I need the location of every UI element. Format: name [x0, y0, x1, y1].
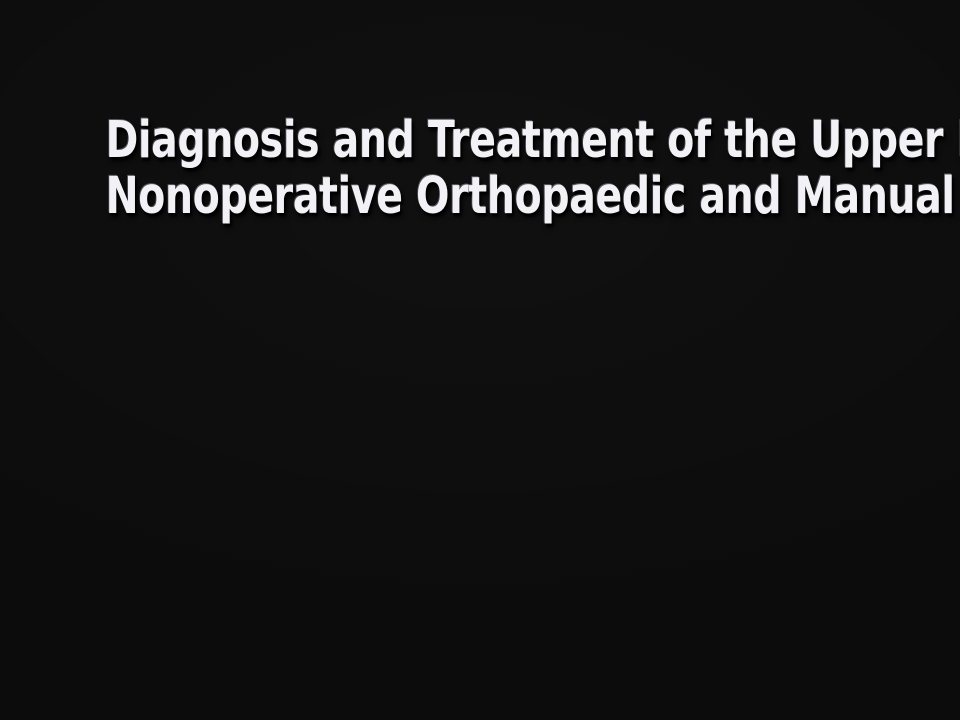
- cover-title-line-1: Diagnosis and Treatment of the Upper Ext…: [106, 112, 855, 168]
- cover-title-line-2: Nonoperative Orthopaedic and Manual Ther…: [106, 168, 855, 224]
- cover-title-block: Diagnosis and Treatment of the Upper Ext…: [0, 112, 960, 224]
- book-cover-canvas: Diagnosis and Treatment of the Upper Ext…: [0, 0, 960, 720]
